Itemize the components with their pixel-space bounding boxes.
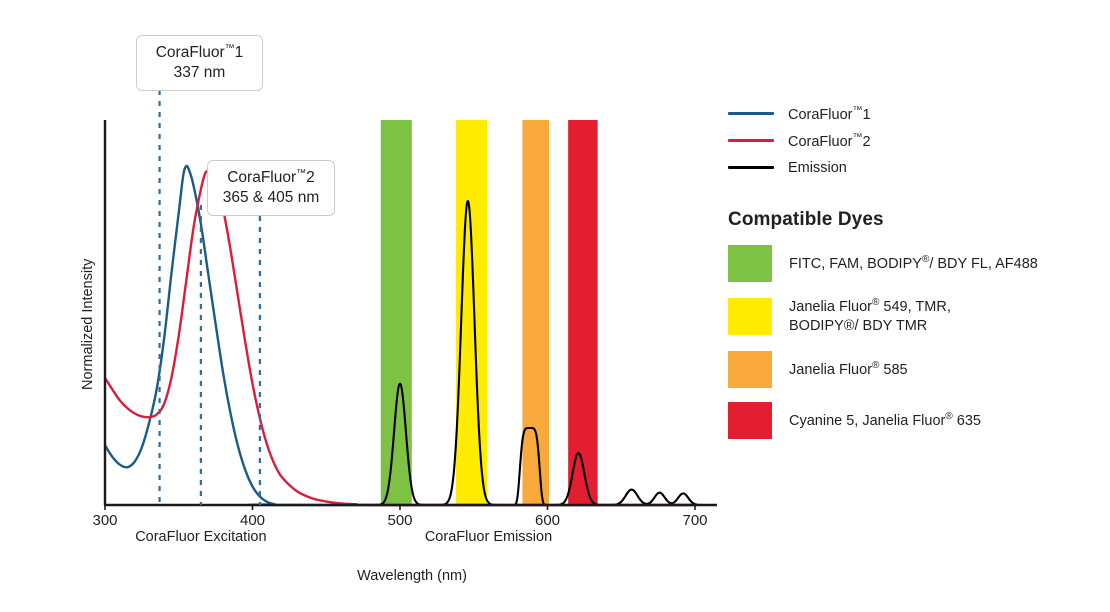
legend-line-row-1: CoraFluor™2 xyxy=(728,127,1110,154)
x-tick-label-700: 700 xyxy=(665,512,725,529)
red-band xyxy=(568,120,598,505)
dye-label-2: Janelia Fluor® 585 xyxy=(789,359,908,380)
x-tick-label-300: 300 xyxy=(75,512,135,529)
compatible-dyes-title: Compatible Dyes xyxy=(728,209,1110,231)
dye-legend-row-0: FITC, FAM, BODIPY®/ BDY FL, AF488 xyxy=(728,245,1110,282)
dye-swatch-2 xyxy=(728,351,772,388)
legend-line-swatch-0 xyxy=(728,112,774,115)
dye-legend-row-1: Janelia Fluor® 549, TMR,BODIPY®/ BDY TMR xyxy=(728,296,1110,337)
line-legend: CoraFluor™1CoraFluor™2Emission xyxy=(728,100,1110,181)
legend-line-label-0: CoraFluor™1 xyxy=(788,105,871,123)
callout-corafluor-1: CoraFluor™1 337 nm xyxy=(136,35,263,91)
dye-swatch-0 xyxy=(728,245,772,282)
emission-range-label: CoraFluor Emission xyxy=(339,529,639,545)
dye-label-line1-0: FITC, FAM, BODIPY®/ BDY FL, AF488 xyxy=(789,256,1038,272)
dye-label-1: Janelia Fluor® 549, TMR,BODIPY®/ BDY TMR xyxy=(789,296,951,337)
dye-label-3: Cyanine 5, Janelia Fluor® 635 xyxy=(789,410,981,431)
callout-1-line1: CoraFluor™1 xyxy=(147,42,252,63)
x-axis-title: Wavelength (nm) xyxy=(262,568,562,584)
callout-2-line1: CoraFluor™2 xyxy=(218,167,324,188)
dye-label-0: FITC, FAM, BODIPY®/ BDY FL, AF488 xyxy=(789,253,1038,274)
callout-1-line2: 337 nm xyxy=(147,63,252,83)
chart-plot-area: CoraFluor™1 337 nm CoraFluor™2 365 & 405… xyxy=(0,0,720,612)
x-tick-label-500: 500 xyxy=(370,512,430,529)
legend-line-swatch-1 xyxy=(728,139,774,142)
dye-swatch-1 xyxy=(728,298,772,335)
dye-legend-row-3: Cyanine 5, Janelia Fluor® 635 xyxy=(728,402,1110,439)
legend-line-label-1: CoraFluor™2 xyxy=(788,132,871,150)
callout-2-line2: 365 & 405 nm xyxy=(218,188,324,208)
legend-line-swatch-2 xyxy=(728,166,774,169)
spectra-figure: CoraFluor™1 337 nm CoraFluor™2 365 & 405… xyxy=(0,0,1110,612)
excitation-range-label: CoraFluor Excitation xyxy=(51,529,351,545)
legend-panel: CoraFluor™1CoraFluor™2Emission Compatibl… xyxy=(728,100,1110,453)
x-tick-label-400: 400 xyxy=(223,512,283,529)
legend-line-row-2: Emission xyxy=(728,154,1110,181)
callout-corafluor-2: CoraFluor™2 365 & 405 nm xyxy=(207,160,335,216)
y-axis-title: Normalized Intensity xyxy=(80,259,96,390)
dye-swatch-3 xyxy=(728,402,772,439)
dye-label-line1-3: Cyanine 5, Janelia Fluor® 635 xyxy=(789,413,981,429)
orange-band xyxy=(522,120,549,505)
dye-legend-row-2: Janelia Fluor® 585 xyxy=(728,351,1110,388)
legend-line-label-2: Emission xyxy=(788,160,847,176)
x-tick-label-600: 600 xyxy=(518,512,578,529)
dye-label-line1-1: Janelia Fluor® 549, TMR, xyxy=(789,299,951,315)
dye-label-line2-1: BODIPY®/ BDY TMR xyxy=(789,317,951,337)
legend-line-row-0: CoraFluor™1 xyxy=(728,100,1110,127)
dye-label-line1-2: Janelia Fluor® 585 xyxy=(789,362,908,378)
compatible-dyes-list: FITC, FAM, BODIPY®/ BDY FL, AF488Janelia… xyxy=(728,245,1110,439)
